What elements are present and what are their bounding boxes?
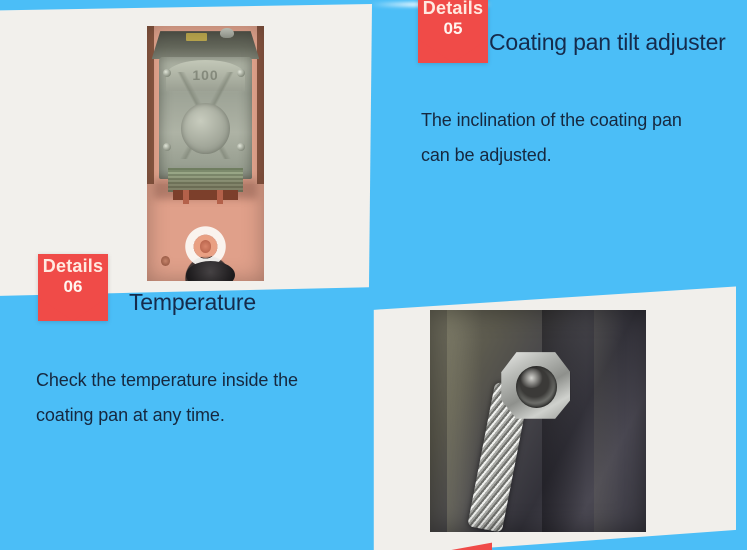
right-blue-strip — [736, 284, 747, 550]
body-line: can be adjusted. — [421, 138, 741, 173]
badge-pennant-tail — [38, 297, 108, 321]
body-line: Check the temperature inside the — [36, 363, 356, 398]
body-detail-06: Check the temperature inside the coating… — [36, 363, 356, 433]
heading-detail-06: Temperature — [129, 288, 256, 316]
badge-title: Details — [38, 255, 108, 277]
badge-body: Details 05 — [418, 0, 488, 39]
body-line: The inclination of the coating pan — [421, 103, 741, 138]
badge-details-06: Details 06 — [38, 254, 108, 321]
badge-number: 05 — [418, 19, 488, 39]
heading-detail-05: Coating pan tilt adjuster — [489, 28, 726, 56]
badge-details-05: Details 05 — [418, 0, 488, 63]
infographic-canvas: 100 Details 05 Coating pan tilt adjuster… — [0, 0, 747, 550]
badge-body: Details 06 — [38, 254, 108, 297]
badge-title: Details — [418, 0, 488, 19]
cable-gland-photo — [430, 310, 646, 532]
photo-vignette — [430, 310, 646, 532]
body-line: coating pan at any time. — [36, 398, 356, 433]
body-detail-05: The inclination of the coating pan can b… — [421, 103, 741, 173]
badge-number: 06 — [38, 277, 108, 297]
photo-vignette — [147, 26, 264, 281]
gearbox-photo: 100 — [147, 26, 264, 281]
badge-pennant-tail — [418, 39, 488, 63]
